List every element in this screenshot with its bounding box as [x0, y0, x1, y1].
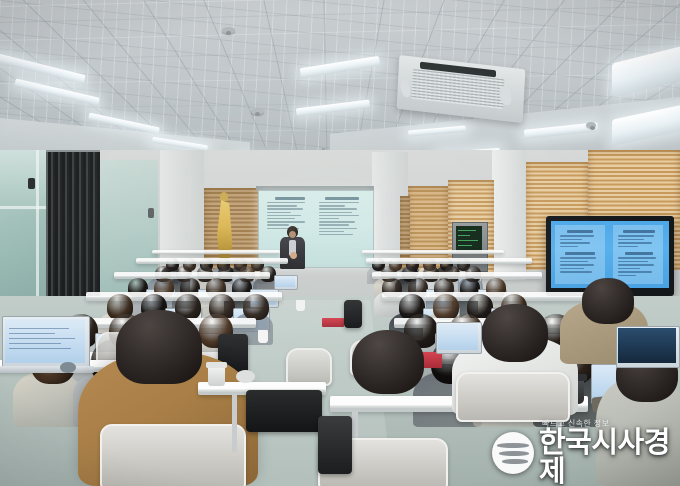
laptop-screen	[618, 328, 676, 363]
tv-slide-line	[618, 239, 644, 241]
tv-slide-line	[560, 257, 596, 259]
laptop-screen-line	[9, 328, 69, 329]
flag-finial-icon	[220, 192, 228, 201]
slide-line	[319, 202, 359, 203]
tv-slide-line	[618, 246, 638, 248]
logo-wave	[502, 459, 528, 464]
white-training-desk	[372, 272, 542, 279]
slide-line	[319, 231, 344, 232]
slide-line	[319, 212, 352, 213]
tv-slide-line	[560, 246, 578, 248]
mouse	[236, 370, 255, 383]
logo-wave	[499, 451, 529, 456]
tv-slide-line	[560, 239, 582, 241]
slide-line	[319, 234, 353, 235]
presenter-hand	[290, 252, 297, 259]
laptop-screen	[275, 276, 295, 288]
white-training-desk	[152, 250, 280, 254]
watermark-text: 빠르고 신속한 정보 한국시사경제	[539, 420, 678, 486]
slide-line	[267, 205, 297, 206]
laptop-screen-line	[9, 338, 75, 339]
rack-indicator-line	[458, 235, 470, 236]
rack-indicator-line	[458, 230, 476, 231]
slide-line	[319, 205, 345, 206]
mesh-office-chair	[286, 348, 332, 386]
mesh-office-chair	[100, 424, 246, 486]
cup-lid	[206, 362, 227, 368]
slide-line	[267, 215, 301, 216]
slide-line	[267, 224, 289, 225]
laptop-screen-line	[9, 348, 71, 349]
slide-line	[319, 208, 357, 209]
watermark-brand: 한국시사경제	[539, 429, 678, 486]
projection-screen	[258, 190, 374, 268]
laptop-screen-line	[9, 343, 61, 344]
sprinkler-head	[251, 108, 264, 115]
rack-indicator-line	[458, 245, 472, 246]
tv-slide-line	[560, 261, 588, 263]
attendee-head	[243, 294, 269, 320]
slide-line	[267, 218, 295, 219]
slide-line	[319, 224, 349, 225]
slide-line	[319, 218, 339, 219]
tv-slide-line	[618, 261, 648, 263]
logo-wave	[497, 443, 529, 448]
coffee-cup	[208, 366, 225, 386]
slide-column-right	[319, 197, 365, 237]
slide-line	[319, 215, 359, 216]
tv-slide-line	[560, 268, 584, 270]
seminar-room-photo: 빠르고 신속한 정보 한국시사경제	[0, 0, 680, 486]
white-training-desk	[362, 250, 504, 254]
tv-slide-line	[618, 268, 640, 270]
laptop-bag	[344, 300, 362, 328]
mesh-office-chair	[456, 372, 570, 422]
slide-title-bar	[275, 197, 305, 200]
laptop-bag	[318, 416, 352, 474]
wall-speaker	[28, 178, 35, 189]
white-training-desk	[136, 258, 288, 264]
tv-slide-line	[560, 242, 590, 244]
tv-slide-line	[618, 264, 654, 266]
slide-line	[267, 212, 291, 213]
tv-slide-column-left	[560, 230, 600, 275]
laptop-screen-line	[9, 333, 55, 334]
slide-line	[267, 202, 305, 203]
tv-slide-title-bar	[625, 252, 653, 255]
tv-slide-column-right	[618, 230, 660, 278]
sprinkler-head	[222, 27, 235, 34]
coffee-cup	[296, 300, 305, 311]
slide-line	[319, 228, 357, 229]
tv-slide-line	[618, 271, 652, 273]
laptop-screen	[438, 324, 478, 350]
laptop-bag	[246, 390, 322, 432]
tv-slide-title-bar	[567, 230, 593, 233]
tinted-glass-partition-upper	[0, 150, 46, 210]
watermark: 빠르고 신속한 정보 한국시사경제	[492, 424, 678, 482]
attendee-head br	[582, 278, 634, 324]
white-training-desk	[366, 258, 532, 264]
tv-slide-line	[560, 264, 594, 266]
attendee-head	[482, 304, 548, 362]
tv-slide-line	[618, 275, 636, 277]
tv-slide-line	[618, 257, 656, 259]
slide-line	[267, 221, 305, 222]
coffee-cup	[258, 330, 268, 343]
attendee-head	[116, 310, 202, 384]
watermark-tagline: 빠르고 신속한 정보	[542, 420, 678, 428]
tv-slide-line	[560, 235, 594, 237]
tv-slide-title-bar	[623, 230, 655, 233]
tv-slide-line	[618, 235, 654, 237]
slide-line	[319, 221, 355, 222]
desk-leg	[232, 394, 237, 452]
tv-slide-line	[560, 271, 592, 273]
rack-indicator-line	[458, 240, 478, 241]
wall-speaker	[148, 208, 154, 218]
tv-slide-line	[618, 242, 652, 244]
attendee-head	[352, 330, 424, 394]
wave-circle-logo-icon	[492, 432, 534, 474]
laptop-base	[0, 366, 94, 373]
slide-line	[267, 208, 303, 209]
presenter-face	[289, 231, 296, 238]
slide-title-bar	[325, 197, 359, 200]
laptop-screen	[5, 319, 85, 363]
mouse	[60, 362, 76, 373]
tv-slide-title-bar	[565, 252, 595, 255]
glass-mullion	[0, 206, 46, 209]
red-item-on-desk	[322, 318, 344, 327]
sprinkler-head	[586, 122, 596, 128]
